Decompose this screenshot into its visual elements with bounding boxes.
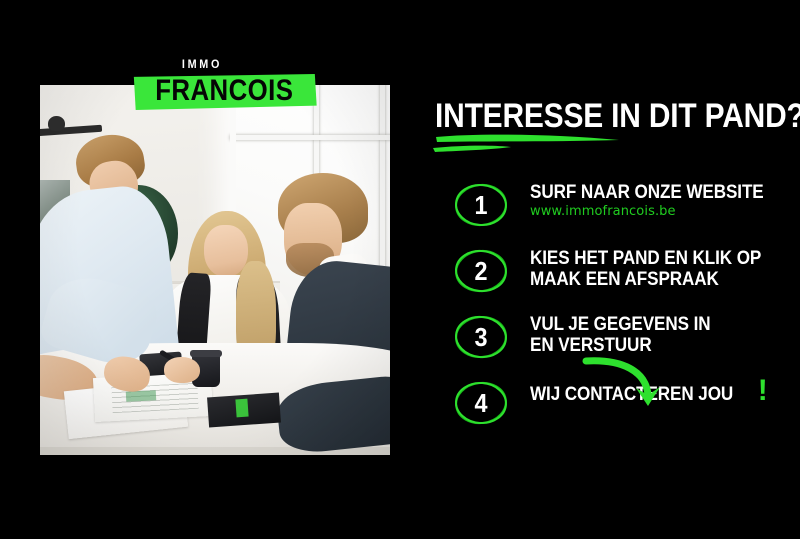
step-number: 3 [456,312,506,362]
step-line: VUL JE GEGEVENS IN [530,314,771,335]
brand-logo: IMMO FRANCOIS [132,58,272,110]
curved-arrow-icon [580,355,670,415]
page-title: INTERESSE IN DIT PAND? [435,98,756,134]
logo-name: FRANCOIS [155,76,293,106]
step-text: VUL JE GEGEVENS IN EN VERSTUUR [530,314,798,356]
step-number: 4 [456,378,506,428]
step-line: MAAK EEN AFSPRAAK [530,269,771,290]
photo-vignette [40,85,390,455]
logo-banner: FRANCOIS [132,74,317,110]
step-line: KIES HET PAND EN KLIK OP [530,248,771,269]
website-url[interactable]: www.immofrancois.be [530,203,798,220]
exclamation-mark: ! [758,380,768,401]
poster-canvas: IMMO FRANCOIS INTERESSE IN DIT PAND? 1 [0,0,800,539]
logo-top-word: IMMO [139,58,265,71]
team-photo [40,85,390,455]
step-number: 2 [456,246,506,296]
headline-block: INTERESSE IN DIT PAND? [435,98,800,156]
step-line: EN VERSTUUR [530,335,771,356]
steps-list: 1 SURF NAAR ONZE WEBSITE www.immofrancoi… [435,180,800,444]
step-item: 1 SURF NAAR ONZE WEBSITE www.immofrancoi… [435,180,800,246]
step-text: SURF NAAR ONZE WEBSITE www.immofrancois.… [530,182,798,220]
content-column: INTERESSE IN DIT PAND? 1 SURF NAAR ONZE … [435,0,800,539]
step-number: 1 [456,180,506,230]
step-line: SURF NAAR ONZE WEBSITE [530,182,771,203]
step-text: KIES HET PAND EN KLIK OP MAAK EEN AFSPRA… [530,248,798,290]
step-item: 2 KIES HET PAND EN KLIK OP MAAK EEN AFSP… [435,246,800,312]
